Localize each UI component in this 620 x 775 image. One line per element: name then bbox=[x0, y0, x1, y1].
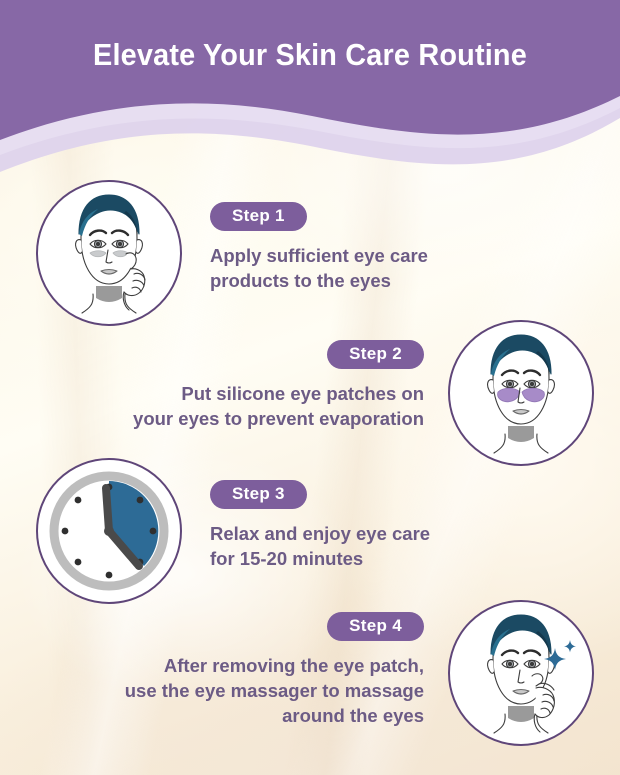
step-3-row: Step 3 Relax and enjoy eye care for 15-2… bbox=[36, 458, 430, 604]
face-applying-eye-cream-icon bbox=[38, 182, 180, 324]
step-3-text-block: Step 3 Relax and enjoy eye care for 15-2… bbox=[210, 458, 430, 572]
step-4-text-block: Step 4 After removing the eye patch, use… bbox=[125, 600, 424, 729]
step-1-description: Apply sufficient eye care products to th… bbox=[210, 244, 428, 294]
step-4-badge: Step 4 bbox=[327, 612, 424, 641]
step-4-illustration bbox=[448, 600, 594, 746]
skincare-routine-infographic: Elevate Your Skin Care Routine bbox=[0, 0, 620, 775]
step-1-illustration bbox=[36, 180, 182, 326]
step-1-badge: Step 1 bbox=[210, 202, 307, 231]
step-3-badge: Step 3 bbox=[210, 480, 307, 509]
step-2-text-block: Step 2 Put silicone eye patches on your … bbox=[133, 320, 424, 432]
step-2-row: Step 2 Put silicone eye patches on your … bbox=[133, 320, 594, 466]
step-4-row: Step 4 After removing the eye patch, use… bbox=[125, 600, 594, 746]
face-with-eye-massager-icon bbox=[450, 602, 592, 744]
step-1-text-block: Step 1 Apply sufficient eye care product… bbox=[210, 180, 428, 294]
step-3-description: Relax and enjoy eye care for 15-20 minut… bbox=[210, 522, 430, 572]
step-1-row: Step 1 Apply sufficient eye care product… bbox=[36, 180, 428, 326]
step-4-description: After removing the eye patch, use the ey… bbox=[125, 654, 424, 729]
step-2-badge: Step 2 bbox=[327, 340, 424, 369]
clock-icon bbox=[38, 460, 180, 602]
face-with-eye-patches-icon bbox=[450, 322, 592, 464]
step-2-illustration bbox=[448, 320, 594, 466]
step-3-illustration bbox=[36, 458, 182, 604]
step-2-description: Put silicone eye patches on your eyes to… bbox=[133, 382, 424, 432]
